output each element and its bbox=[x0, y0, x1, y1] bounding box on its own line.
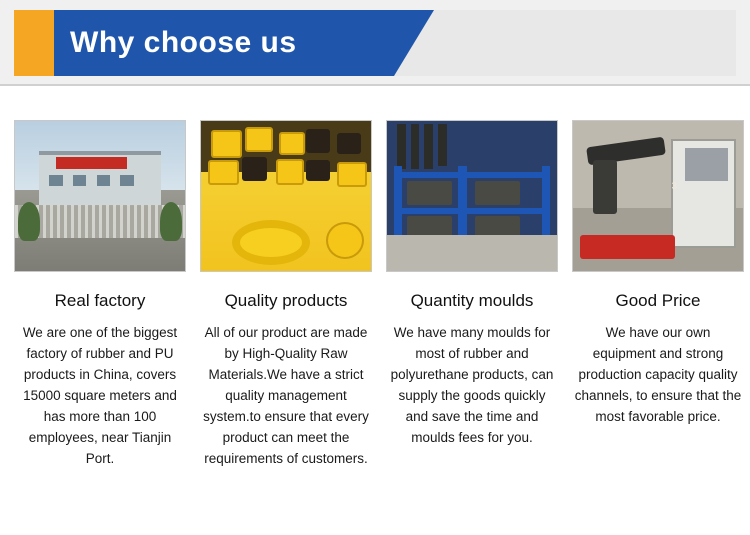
photo-pipe bbox=[438, 124, 447, 166]
card-description: We are one of the biggest factory of rub… bbox=[14, 322, 186, 469]
photo-part-dark bbox=[306, 129, 330, 153]
warehouse-racks-photo bbox=[386, 120, 558, 272]
photo-machine-column bbox=[593, 160, 617, 214]
photo-part bbox=[276, 159, 304, 186]
photo-stored-mould bbox=[407, 216, 451, 237]
page-title: Why choose us bbox=[70, 10, 297, 76]
feature-card: Real factory We are one of the biggest f… bbox=[14, 120, 186, 535]
photo-tree bbox=[160, 202, 182, 241]
card-title: Good Price bbox=[572, 290, 744, 312]
photo-stored-mould bbox=[407, 181, 451, 205]
photo-machine-base bbox=[580, 235, 675, 259]
card-description: We have many moulds for most of rubber a… bbox=[386, 322, 558, 448]
photo-window bbox=[120, 175, 134, 186]
card-title: Quantity moulds bbox=[386, 290, 558, 312]
photo-floor bbox=[387, 235, 557, 271]
feature-card-list: Real factory We are one of the biggest f… bbox=[0, 86, 750, 535]
photo-part bbox=[279, 132, 305, 156]
photo-window bbox=[49, 175, 63, 186]
photo-pipe bbox=[411, 124, 420, 169]
card-title: Real factory bbox=[14, 290, 186, 312]
why-choose-us-page: Why choose us Real factory We are one of… bbox=[0, 0, 750, 535]
photo-part-dark bbox=[337, 133, 361, 154]
photo-part-dark bbox=[306, 160, 330, 181]
photo-rack-beam bbox=[394, 208, 550, 214]
photo-rack-beam bbox=[394, 172, 550, 178]
feature-card: 3 Good Price We have our own equipment a… bbox=[572, 120, 744, 535]
header-accent-stripe bbox=[14, 10, 54, 76]
production-machine-photo: 3 bbox=[572, 120, 744, 272]
photo-part bbox=[326, 222, 364, 259]
photo-machine-number: 3 bbox=[672, 181, 678, 192]
factory-building-photo bbox=[14, 120, 186, 272]
card-description: We have our own equipment and strong pro… bbox=[572, 322, 744, 427]
photo-window bbox=[97, 175, 111, 186]
photo-stored-mould bbox=[475, 216, 519, 237]
photo-control-panel bbox=[685, 148, 728, 181]
photo-roof-sign bbox=[56, 157, 127, 169]
photo-part bbox=[211, 130, 242, 158]
photo-pipe bbox=[424, 124, 433, 169]
photo-tree bbox=[18, 202, 40, 241]
card-description: All of our product are made by High-Qual… bbox=[200, 322, 372, 469]
feature-card: Quality products All of our product are … bbox=[200, 120, 372, 535]
photo-part bbox=[245, 127, 273, 152]
photo-part bbox=[208, 160, 239, 185]
photo-window bbox=[73, 175, 87, 186]
yellow-polyurethane-parts-photo bbox=[200, 120, 372, 272]
photo-pipe bbox=[397, 124, 406, 169]
photo-part-dark bbox=[242, 157, 268, 181]
header-banner: Why choose us bbox=[0, 0, 750, 86]
feature-card: Quantity moulds We have many moulds for … bbox=[386, 120, 558, 535]
card-title: Quality products bbox=[200, 290, 372, 312]
photo-part bbox=[337, 162, 367, 187]
photo-rack-upright bbox=[542, 166, 551, 238]
photo-rack-upright bbox=[394, 166, 403, 238]
photo-stored-mould bbox=[475, 181, 519, 205]
photo-yellow-disc bbox=[232, 220, 310, 265]
photo-rack-upright bbox=[458, 166, 467, 238]
